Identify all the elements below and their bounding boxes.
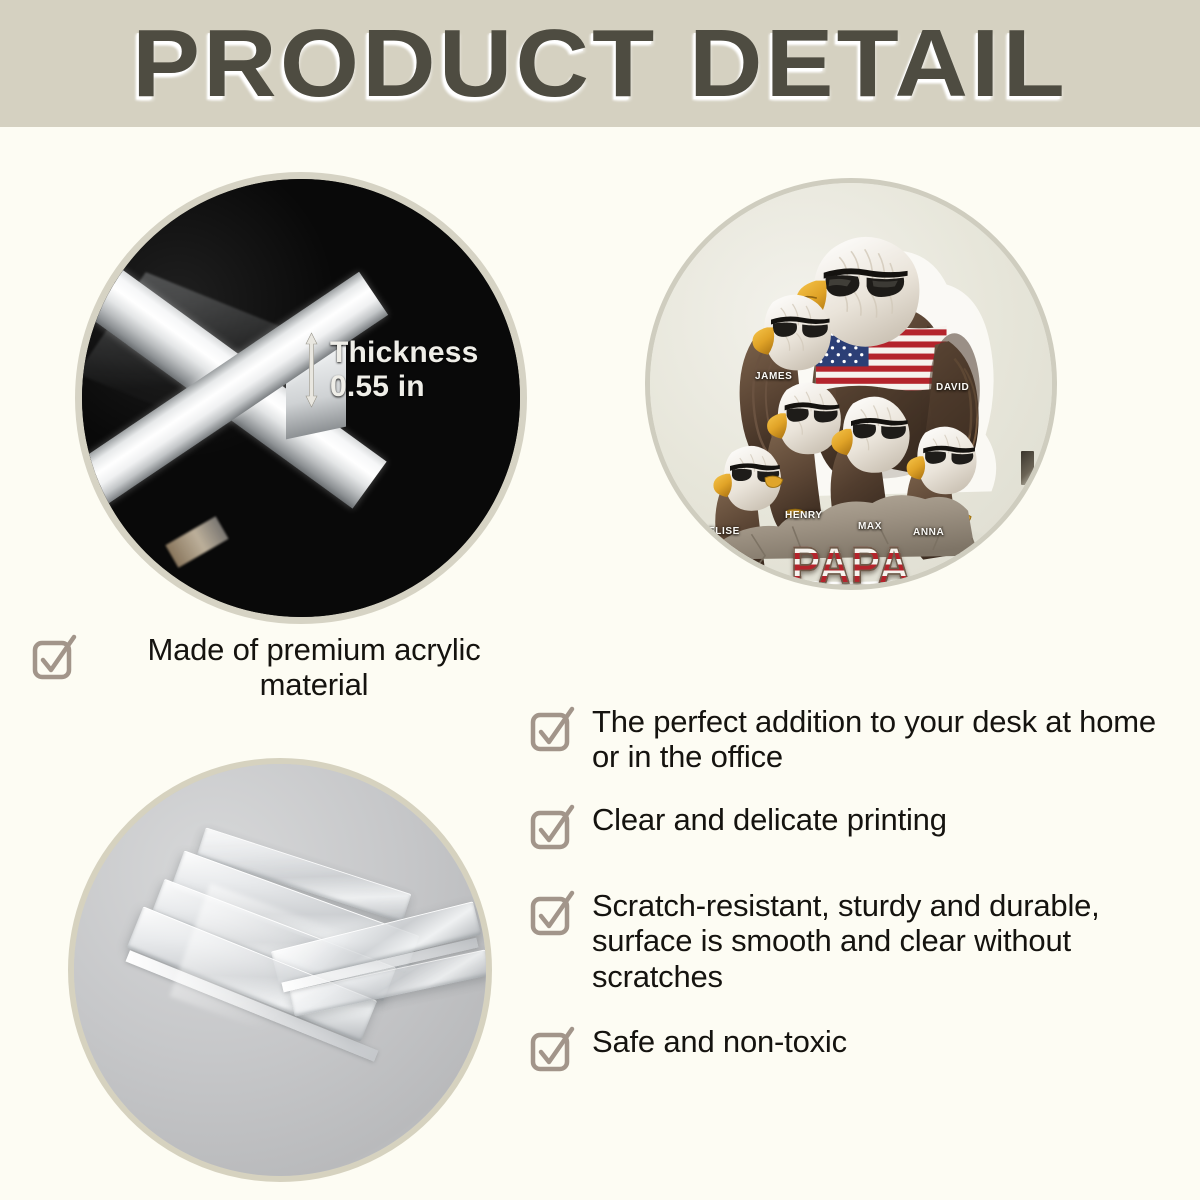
feature-item-safe: Safe and non-toxic xyxy=(528,1024,1188,1076)
thickness-annotation: Thickness 0.55 in xyxy=(304,331,479,409)
checkbox-checked-icon xyxy=(528,706,578,756)
checkbox-checked-icon xyxy=(528,1026,578,1076)
thickness-line-1: Thickness xyxy=(330,336,479,370)
name-label-james: JAMES xyxy=(755,371,792,382)
acrylic-warm-reflection xyxy=(165,516,228,568)
name-label-henry: HENRY xyxy=(785,510,823,521)
eagle-sculpture: JAMES DAVID ELISE HENRY MAX ANNA PAPA xyxy=(650,183,1052,585)
name-label-max: MAX xyxy=(858,521,882,532)
checkbox-checked-icon xyxy=(30,634,80,684)
feature-text-scratch: Scratch-resistant, sturdy and durable, s… xyxy=(592,888,1188,994)
acrylic-edge-photo: Thickness 0.55 in xyxy=(75,172,527,624)
name-label-david: DAVID xyxy=(936,382,969,393)
name-label-anna: ANNA xyxy=(913,527,944,538)
feature-text-print: Clear and delicate printing xyxy=(592,802,947,837)
checkbox-checked-icon xyxy=(528,890,578,940)
feature-text-safe: Safe and non-toxic xyxy=(592,1024,847,1059)
feature-item-scratch: Scratch-resistant, sturdy and durable, s… xyxy=(528,888,1188,994)
engraved-word-papa: PAPA xyxy=(791,542,911,590)
eagle-family-plaque-photo: JAMES DAVID ELISE HENRY MAX ANNA PAPA xyxy=(645,178,1057,590)
feature-item-print: Clear and delicate printing xyxy=(528,802,1188,854)
checkbox-checked-icon xyxy=(528,804,578,854)
name-label-elise: ELISE xyxy=(708,526,740,537)
feature-text-desk: The perfect addition to your desk at hom… xyxy=(592,704,1188,775)
thickness-line-2: 0.55 in xyxy=(330,370,479,404)
page-title: PRODUCT DETAIL xyxy=(0,16,1200,112)
header-band: PRODUCT DETAIL xyxy=(0,0,1200,127)
eagle-sculpture-art xyxy=(650,183,1052,585)
double-headed-vertical-arrow-icon xyxy=(304,331,319,409)
feature-item-material: Made of premium acrylic material xyxy=(30,632,550,703)
thickness-label: Thickness 0.55 in xyxy=(330,336,479,403)
feature-text-material: Made of premium acrylic material xyxy=(94,632,534,703)
feature-item-desk: The perfect addition to your desk at hom… xyxy=(528,704,1188,775)
clear-acrylic-sheets-photo xyxy=(68,758,492,1182)
